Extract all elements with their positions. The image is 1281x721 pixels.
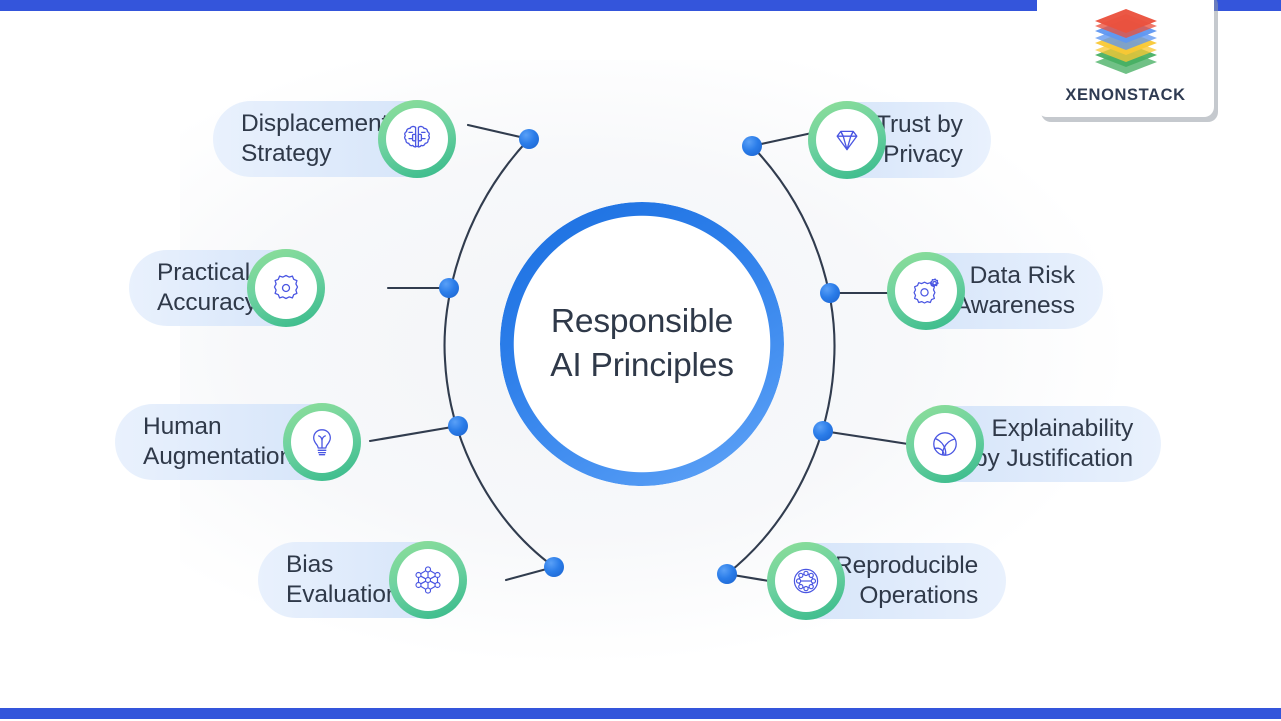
- badge-inner: [914, 413, 976, 475]
- spoke-left-3: [370, 426, 458, 441]
- bottom-accent-bar: [0, 708, 1281, 719]
- badge-inner: [816, 109, 878, 171]
- logo-layers-icon: [1087, 8, 1165, 82]
- node-label: Displacement Strategy: [241, 109, 388, 169]
- node-bias-evaluation[interactable]: Bias Evaluation: [258, 542, 465, 618]
- spoke-right-1: [752, 133, 812, 146]
- spoke-left-1: [468, 125, 529, 139]
- brand-name: XENONSTACK: [1065, 86, 1185, 105]
- node-badge[interactable]: [887, 252, 965, 330]
- connector-dot: [439, 278, 459, 298]
- node-practical-accuracy[interactable]: Practical Accuracy: [129, 250, 323, 326]
- connector-dot: [820, 283, 840, 303]
- spoke-left-4: [506, 567, 554, 580]
- page-title: Responsible AI Principles: [550, 300, 734, 388]
- node-badge[interactable]: [389, 541, 467, 619]
- node-badge[interactable]: [378, 100, 456, 178]
- badge-inner: [291, 411, 353, 473]
- stacked-layers-logo: [1087, 8, 1165, 82]
- node-label: Trust by Privacy: [876, 110, 963, 170]
- hub-title-line1: Responsible: [550, 300, 734, 344]
- node-badge[interactable]: [247, 249, 325, 327]
- node-badge[interactable]: [283, 403, 361, 481]
- node-badge[interactable]: [906, 405, 984, 483]
- badge-inner: [386, 108, 448, 170]
- node-displacement-strategy[interactable]: Displacement Strategy: [213, 101, 454, 177]
- node-label: Data Risk Awareness: [955, 261, 1075, 321]
- connector-dot: [813, 421, 833, 441]
- node-data-risk-awareness[interactable]: Data Risk Awareness: [889, 253, 1103, 329]
- node-trust-by-privacy[interactable]: Trust by Privacy: [810, 102, 991, 178]
- badge-inner: [895, 260, 957, 322]
- lightbulb-icon: [302, 422, 342, 462]
- slide-canvas: Responsible AI Principles Displacement S…: [0, 0, 1281, 721]
- node-label: Explainability by Justification: [974, 414, 1133, 474]
- node-badge[interactable]: [767, 542, 845, 620]
- connector-dot: [519, 129, 539, 149]
- brand-logo-card: XENONSTACK: [1037, 0, 1214, 117]
- hub-title-line2: AI Principles: [550, 344, 734, 388]
- badge-inner: [775, 550, 837, 612]
- node-label: Human Augmentation: [143, 412, 293, 472]
- node-label: Reproducible Operations: [835, 551, 978, 611]
- connector-dot: [544, 557, 564, 577]
- connector-dot: [742, 136, 762, 156]
- diamond-icon: [827, 120, 867, 160]
- gear-icon: [266, 268, 306, 308]
- center-hub: Responsible AI Principles: [500, 202, 784, 486]
- circular-network-icon: [786, 561, 826, 601]
- badge-inner: [255, 257, 317, 319]
- badge-inner: [397, 549, 459, 611]
- network-graph-icon: [408, 560, 448, 600]
- connector-dot: [717, 564, 737, 584]
- node-label: Bias Evaluation: [286, 550, 399, 610]
- connector-dot: [448, 416, 468, 436]
- settings-gears-icon: [906, 271, 946, 311]
- node-badge[interactable]: [808, 101, 886, 179]
- sphere-icon: [925, 424, 965, 464]
- spoke-right-3: [823, 431, 908, 444]
- node-human-augmentation[interactable]: Human Augmentation: [115, 404, 359, 480]
- node-reproducible-operations[interactable]: Reproducible Operations: [769, 543, 1006, 619]
- node-label: Practical Accuracy: [157, 258, 257, 318]
- brain-icon: [397, 119, 437, 159]
- node-explainability-by-justification[interactable]: Explainability by Justification: [908, 406, 1161, 482]
